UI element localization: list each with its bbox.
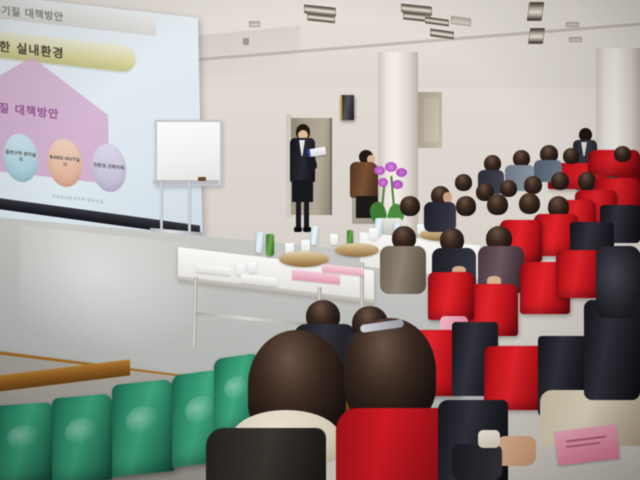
- seat-highlight: [126, 404, 159, 435]
- attendee-head: [456, 196, 476, 216]
- slide-title-text: 쾌적한 실내환경: [0, 25, 135, 69]
- green-beverage-bottle: [266, 234, 274, 256]
- slide-bubble-label: 흡연구역 분리설치: [5, 150, 36, 166]
- paper-cup: [369, 228, 378, 240]
- paper-cup: [248, 262, 257, 273]
- seat-highlight: [65, 417, 97, 446]
- wall-speaker: [340, 95, 354, 120]
- slide-header: 실내공기질 대책방안: [0, 0, 156, 36]
- presenter: [286, 124, 320, 234]
- presenter-leg: [296, 201, 301, 229]
- orchid-flower: [396, 168, 407, 177]
- orchid-flower: [374, 166, 385, 175]
- attendee-head: [563, 148, 579, 164]
- orchid-flower: [378, 178, 388, 187]
- presenter-shoe: [303, 227, 311, 232]
- presenter-leg: [304, 201, 309, 229]
- ceiling-vent: [569, 37, 582, 42]
- ceiling-vent: [566, 22, 579, 27]
- slide-footer-text: 한국실내환경학회 발표자료: [52, 193, 104, 205]
- whiteboard-leg: [160, 182, 163, 232]
- ceiling-light: [528, 28, 545, 44]
- orchid-flower: [392, 180, 403, 189]
- food-platter: [335, 243, 379, 257]
- slide-bubble-label: 친환경 건축자재: [93, 163, 124, 172]
- green-bench-seat[interactable]: [0, 402, 54, 480]
- mobile-whiteboard[interactable]: [155, 120, 222, 186]
- attendee-coat: [206, 428, 326, 480]
- paper-cup: [330, 234, 338, 245]
- whiteboard-leg: [188, 182, 191, 232]
- floor-reflection: [20, 225, 220, 366]
- seat-highlight: [185, 394, 216, 425]
- seat-highlight: [7, 424, 39, 450]
- attendee-head: [455, 174, 472, 191]
- attendee-head: [519, 193, 540, 214]
- attendee-head: [487, 194, 508, 215]
- presenter-skirt: [292, 180, 313, 202]
- attendee-torso: [380, 246, 426, 294]
- ceiling-sensor: [243, 38, 249, 45]
- photo-canvas: 발표회 표회 ○○대학교 환경공학과 실내공기질 대책방안 쾌적한 실내환경 실…: [0, 0, 640, 480]
- attendee-head: [524, 176, 542, 194]
- slide-bubble: 친환경 건축자재: [91, 142, 127, 194]
- attendee-red-coat: [336, 408, 452, 480]
- whiteboard-marker: [198, 177, 206, 181]
- dark-clothing: [596, 246, 640, 318]
- presenter-shoe: [294, 227, 302, 232]
- slide-header-text: 실내공기질 대책방안: [0, 0, 156, 34]
- attendee-head: [400, 196, 420, 216]
- slide-bubble-label: BAKE-OUT실시: [49, 155, 80, 171]
- water-bottle: [311, 226, 318, 245]
- water-bottle: [256, 232, 263, 253]
- green-bench-seat[interactable]: [52, 393, 112, 480]
- attendee-head: [551, 172, 569, 190]
- tissue: [478, 430, 500, 448]
- attendee-head: [614, 146, 631, 162]
- green-bench-seat[interactable]: [112, 379, 174, 478]
- attendee-sleeve: [452, 444, 502, 480]
- ceiling-vent: [249, 21, 260, 27]
- red-seat[interactable]: [428, 272, 474, 320]
- wall-panel: [424, 98, 439, 142]
- ceiling-light: [527, 2, 545, 21]
- seat-highlight: [224, 374, 249, 400]
